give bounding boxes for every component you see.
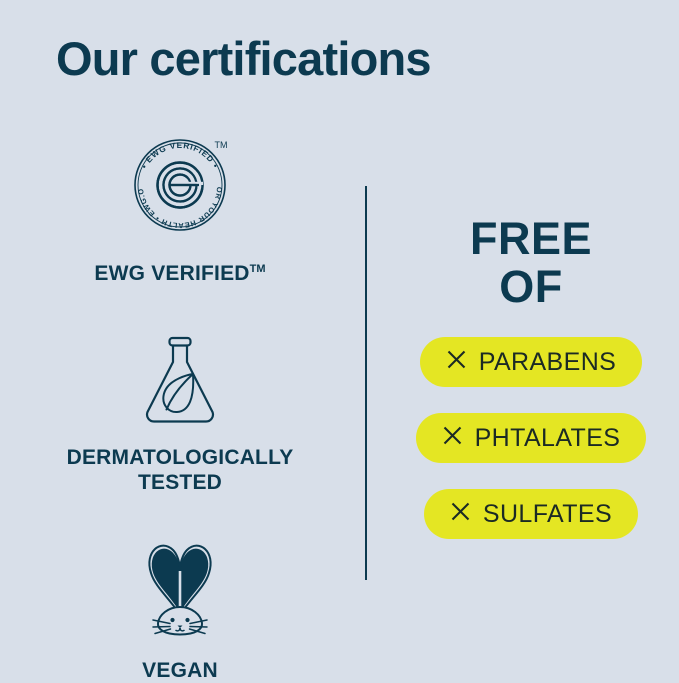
certifications-infographic: Our certifications • EWG VERIFIED • — [0, 0, 679, 679]
certification-label-vegan: VEGAN — [142, 658, 218, 683]
flask-with-leaf-icon — [135, 334, 225, 431]
certification-dermatologically-tested: DERMATOLOGICALLY TESTED — [20, 334, 340, 495]
page-title: Our certifications — [56, 30, 431, 88]
free-of-title: FREE OF — [470, 215, 592, 311]
certification-label-ewg-text: EWG VERIFIED — [94, 262, 249, 285]
free-of-column: FREE OF PARABENS PHTALATES — [400, 215, 662, 565]
free-of-pill-label: PARABENS — [479, 350, 617, 375]
certification-label-ewg: EWG VERIFIEDTM — [94, 257, 265, 286]
free-of-title-line1: FREE — [470, 213, 592, 264]
certification-label-derma-line1: DERMATOLOGICALLY — [67, 446, 294, 469]
rabbit-heart-ears-icon — [128, 535, 232, 644]
seal-trademark-text: TM — [215, 140, 228, 150]
trademark-symbol: TM — [250, 263, 266, 275]
free-of-pill-parabens[interactable]: PARABENS — [420, 337, 643, 387]
svg-text:• EWG VERIFIED •: • EWG VERIFIED • — [140, 141, 221, 170]
certification-label-derma: DERMATOLOGICALLY TESTED — [67, 445, 294, 495]
free-of-pill-label: PHTALATES — [475, 426, 621, 451]
ewg-verified-seal-icon: • EWG VERIFIED • • FOR YOUR HEALTH • EWG… — [126, 130, 234, 243]
free-of-pill-label: SULFATES — [483, 502, 612, 527]
certification-ewg-verified: • EWG VERIFIED • • FOR YOUR HEALTH • EWG… — [20, 130, 340, 286]
certification-vegan: VEGAN — [20, 535, 340, 683]
free-of-pill-sulfates[interactable]: SULFATES — [424, 489, 638, 539]
free-of-pill-phtalates[interactable]: PHTALATES — [416, 413, 647, 463]
certification-label-derma-line2: TESTED — [138, 471, 222, 494]
x-mark-icon — [446, 349, 467, 375]
x-mark-icon — [442, 425, 463, 451]
certifications-column: • EWG VERIFIED • • FOR YOUR HEALTH • EWG… — [20, 130, 340, 683]
x-mark-icon — [450, 501, 471, 527]
free-of-title-line2: OF — [499, 261, 563, 312]
column-divider — [365, 186, 367, 580]
